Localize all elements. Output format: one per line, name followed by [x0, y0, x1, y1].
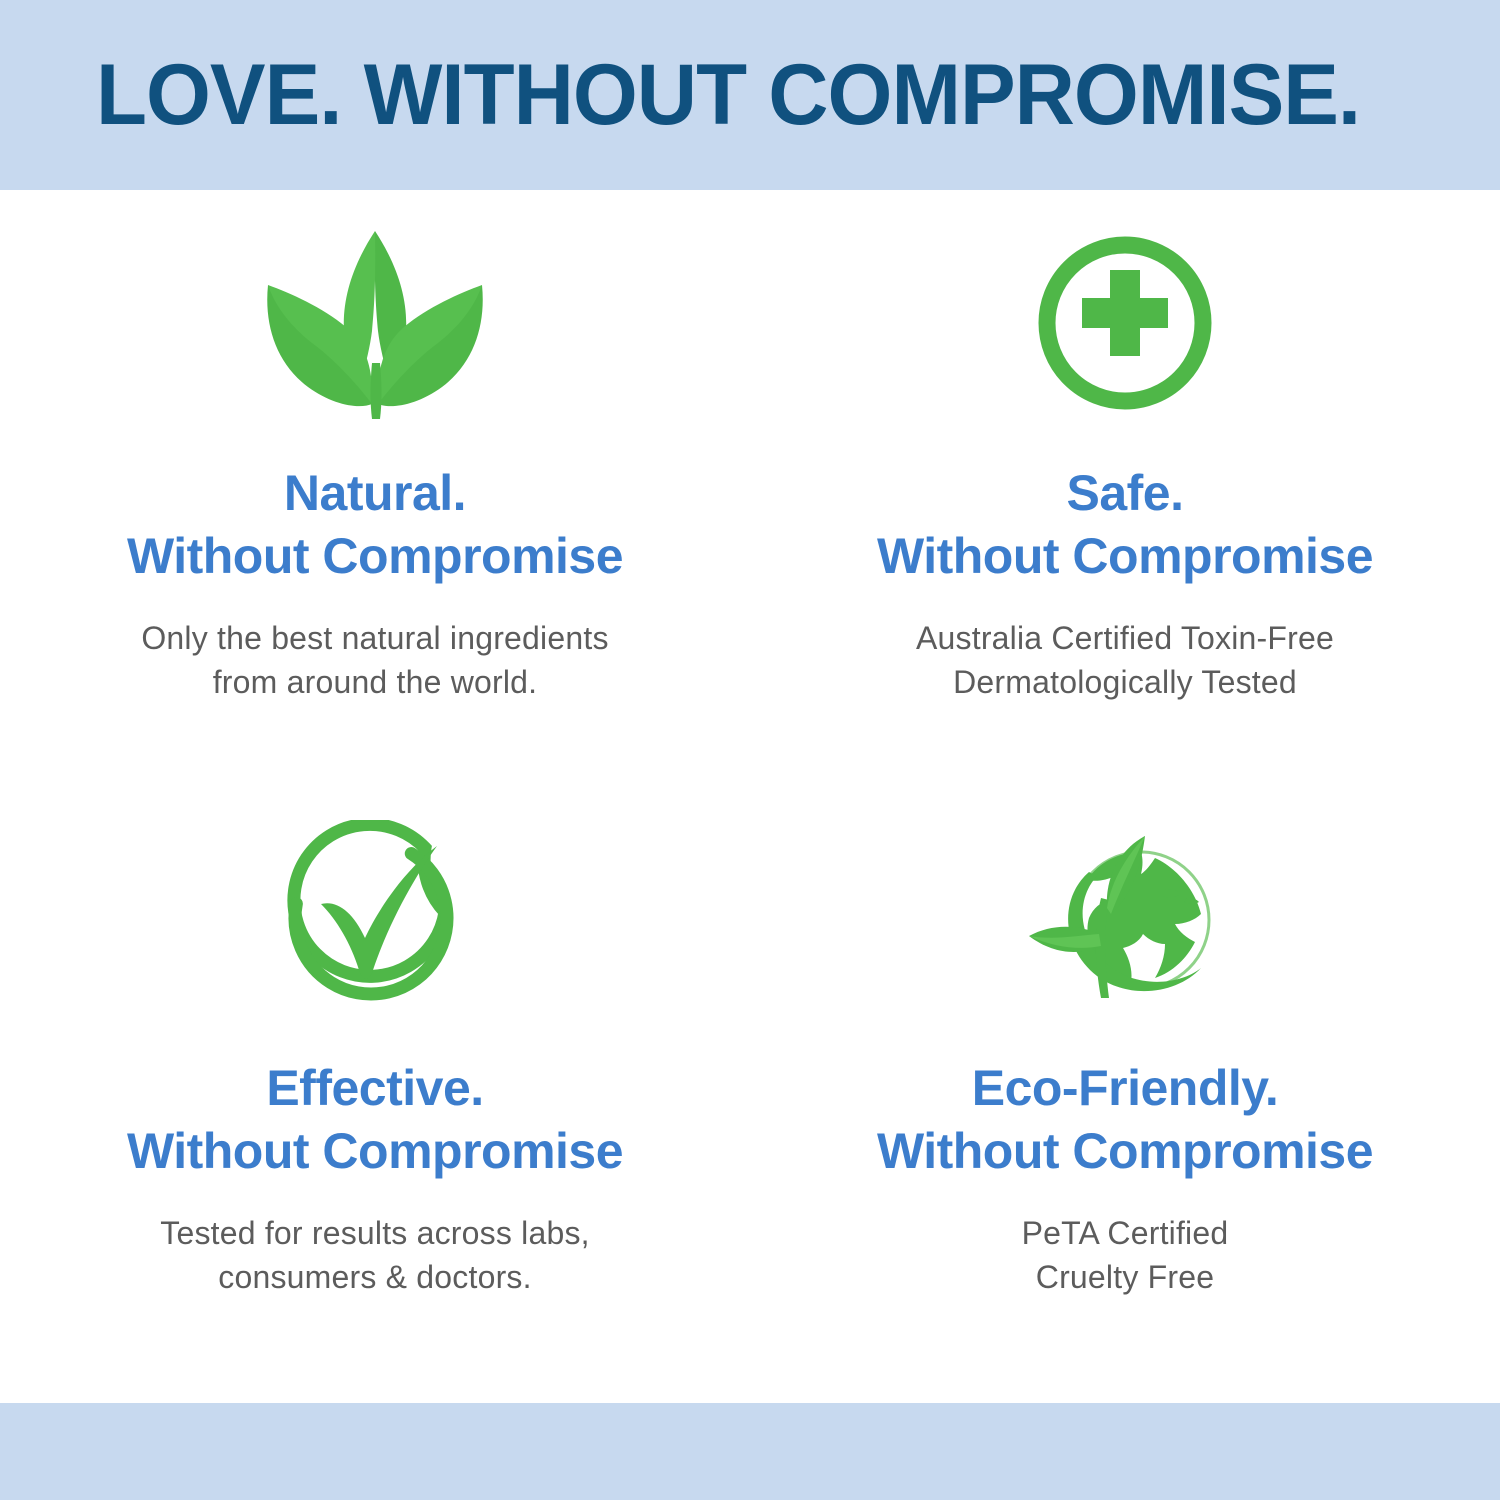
feature-title-line1: Effective. [266, 1060, 483, 1116]
feature-description: Tested for results across labs, consumer… [160, 1211, 589, 1299]
feature-desc-line1: Only the best natural ingredients [141, 620, 608, 656]
feature-title-line1: Natural. [284, 465, 466, 521]
feature-title: Eco-Friendly. Without Compromise [877, 1057, 1373, 1183]
bottom-accent-band [0, 1403, 1500, 1500]
medical-cross-circle-icon [1030, 208, 1220, 438]
feature-card-eco-friendly: Eco-Friendly. Without Compromise PeTA Ce… [750, 803, 1500, 1398]
feature-title: Safe. Without Compromise [877, 462, 1373, 588]
feature-title: Effective. Without Compromise [127, 1057, 623, 1183]
feature-desc-line1: Australia Certified Toxin-Free [916, 620, 1334, 656]
feature-title-line2: Without Compromise [127, 525, 623, 588]
feature-title-line1: Eco-Friendly. [972, 1060, 1279, 1116]
feature-description: Only the best natural ingredients from a… [141, 616, 608, 704]
checkmark-circle-icon [275, 803, 475, 1033]
feature-desc-line2: Cruelty Free [1022, 1255, 1229, 1299]
feature-title-line2: Without Compromise [877, 1120, 1373, 1183]
feature-card-natural: Natural. Without Compromise Only the bes… [0, 208, 750, 803]
feature-card-safe: Safe. Without Compromise Australia Certi… [750, 208, 1500, 803]
feature-desc-line2: Dermatologically Tested [916, 660, 1334, 704]
feature-title-line2: Without Compromise [127, 1120, 623, 1183]
eco-globe-leaves-icon [1015, 803, 1235, 1033]
feature-description: PeTA Certified Cruelty Free [1022, 1211, 1229, 1299]
feature-desc-line1: PeTA Certified [1022, 1215, 1229, 1251]
promo-graphic: LOVE. WITHOUT COMPROMISE. [0, 0, 1500, 1500]
feature-description: Australia Certified Toxin-Free Dermatolo… [916, 616, 1334, 704]
feature-desc-line2: from around the world. [141, 660, 608, 704]
feature-card-effective: Effective. Without Compromise Tested for… [0, 803, 750, 1398]
feature-title: Natural. Without Compromise [127, 462, 623, 588]
leaves-icon [260, 208, 490, 438]
page-title: LOVE. WITHOUT COMPROMISE. [96, 36, 1415, 154]
feature-desc-line1: Tested for results across labs, [160, 1215, 589, 1251]
feature-title-line2: Without Compromise [877, 525, 1373, 588]
feature-desc-line2: consumers & doctors. [160, 1255, 589, 1299]
feature-title-line1: Safe. [1066, 465, 1183, 521]
features-grid: Natural. Without Compromise Only the bes… [0, 208, 1500, 1398]
